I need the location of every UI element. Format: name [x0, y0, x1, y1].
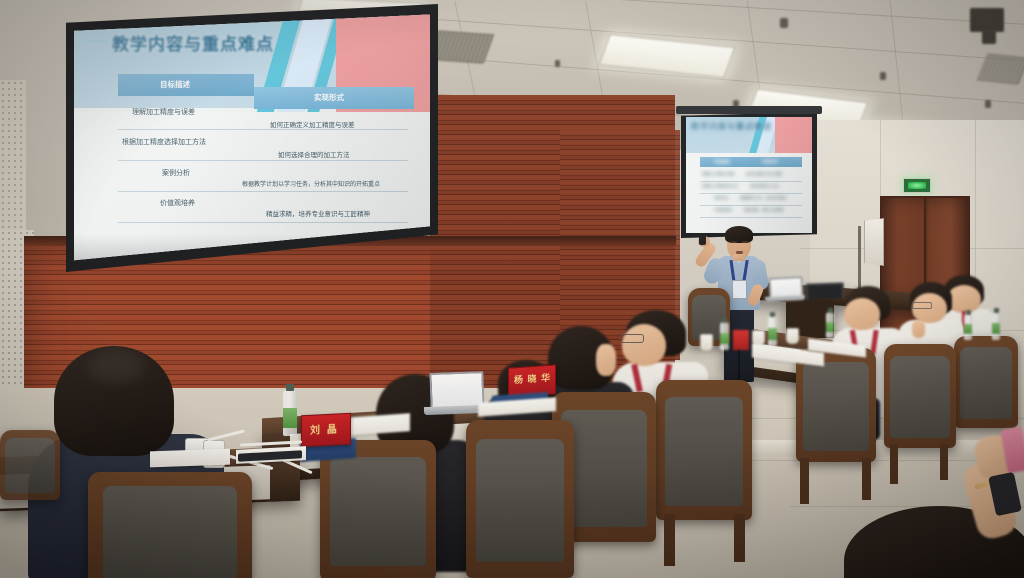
- chair-leg: [664, 514, 675, 566]
- paper-cup[interactable]: [786, 328, 799, 344]
- slide-main: 教学内容与重点难点 目标描述 实现形式 理解加工精度与误差 如何正确定义加工精度…: [74, 12, 430, 264]
- water-bottle[interactable]: [768, 316, 777, 346]
- slide-table-header-cell: 目标描述: [160, 79, 190, 90]
- presenter-eye: [742, 241, 749, 243]
- slide2-cell-3b: 根据教学计划，分析其中要点: [740, 196, 787, 201]
- bottle-label: [992, 323, 1000, 334]
- presenter-neck: [733, 254, 745, 261]
- presenter-eye: [730, 241, 737, 243]
- chair-cushion: [103, 486, 238, 578]
- slide2-pink-block: [775, 117, 812, 153]
- main-projection-screen[interactable]: 教学内容与重点难点 目标描述 实现形式 理解加工精度与误差 如何正确定义加工精度…: [66, 4, 438, 272]
- secondary-projection-screen[interactable]: 教学内容与重点难点 目标描述 实现形式 理解加工精度与误差 如何正确定义加工精度…: [681, 112, 817, 238]
- sprinkler-head: [880, 72, 886, 80]
- chair-cushion: [890, 356, 949, 437]
- chair-cushion: [960, 347, 1013, 419]
- documents-front-left[interactable]: [150, 449, 230, 468]
- bottle-label: [964, 324, 972, 334]
- presenter-remote[interactable]: [699, 234, 706, 245]
- slide2-cell-1a: 理解加工精度与误差: [702, 172, 734, 177]
- running-man-exit-icon: [908, 182, 926, 190]
- chair-right-rear[interactable]: [954, 336, 1018, 428]
- chair-leg: [800, 458, 809, 504]
- bottle-cap: [722, 318, 727, 323]
- chair-cushion: [5, 438, 54, 493]
- slide2-header-cell: 实现形式: [762, 159, 778, 165]
- chair-front-left-1[interactable]: [320, 440, 436, 578]
- chair-leg: [940, 444, 948, 480]
- slide-cell-impl-1: 如何正确定义加工精度与误差: [270, 119, 355, 129]
- slide2-title: 教学内容与重点难点: [691, 121, 772, 132]
- bottle-label: [768, 328, 777, 340]
- water-bottle[interactable]: [964, 314, 972, 340]
- slide2-cell-3a: 案例分析: [714, 196, 728, 201]
- slide-cell-obj-1: 理解加工精度与误差: [132, 107, 195, 117]
- chair-cushion: [803, 362, 869, 451]
- bottle-cap: [966, 310, 971, 315]
- presenter-badge: [732, 280, 747, 299]
- bottle-cap: [828, 308, 833, 313]
- classroom-scene: 教学内容与重点难点 目标描述 实现形式 理解加工精度与误差 如何正确定义加工精度…: [0, 0, 1024, 578]
- chair-leg: [734, 514, 745, 562]
- chair-far-left[interactable]: [0, 430, 60, 500]
- slide2-cell-2b: 如何选择加工方法: [750, 184, 779, 189]
- chair-right-mid[interactable]: [884, 344, 956, 448]
- water-bottle[interactable]: [283, 390, 297, 436]
- slide2-cell-2a: 根据加工精度选择方法: [702, 184, 738, 189]
- name-card-left-text: 刘 晶: [310, 420, 339, 437]
- slide-cell-obj-2: 根据加工精度选择加工方法: [122, 137, 206, 147]
- wall-speaker: [864, 218, 884, 266]
- bottle-label: [826, 322, 834, 332]
- main-screen-surface: 教学内容与重点难点 目标描述 实现形式 理解加工精度与误差 如何正确定义加工精度…: [74, 12, 430, 264]
- ceiling-projector-mount: [970, 8, 1004, 32]
- chair-leg: [862, 458, 871, 500]
- attendee-head: [844, 298, 880, 330]
- chair-cushion: [330, 457, 425, 566]
- slide2-cell-4a: 价值观培养: [714, 208, 732, 213]
- name-card-center-text: 杨 晓 华: [514, 371, 551, 387]
- slide-cell-obj-4: 价值观培养: [160, 198, 195, 208]
- chair-right-front[interactable]: [796, 348, 876, 462]
- secondary-screen-surface: 教学内容与重点难点 目标描述 实现形式 理解加工精度与误差 如何正确定义加工精度…: [686, 117, 812, 233]
- water-bottle[interactable]: [992, 312, 1000, 340]
- chair-cushion: [476, 439, 565, 562]
- slide-cell-impl-2: 如何选择合理的加工方法: [278, 149, 350, 159]
- bottle-cap: [286, 384, 294, 391]
- slide2-header-cell: 目标描述: [714, 159, 730, 165]
- slide2-table: 目标描述 实现形式 理解加工精度与误差 如何正确定义加工精度 根据加工精度选择方…: [700, 157, 802, 219]
- chair-cushion: [665, 397, 744, 506]
- bottle-label: [283, 408, 297, 428]
- hair-highlight: [88, 350, 144, 384]
- slide-cell-obj-3: 案例分析: [162, 168, 190, 178]
- name-card-left[interactable]: 刘 晶: [301, 413, 351, 448]
- sprinkler-head: [780, 18, 788, 28]
- screen2-roller-housing: [676, 106, 822, 114]
- chair-cushion: [561, 410, 646, 527]
- chair-center-1[interactable]: [656, 380, 752, 520]
- bottle-cap: [770, 312, 775, 317]
- slide-table: 目标描述 实现形式 理解加工精度与误差 如何正确定义加工精度与误差 根据加工精度…: [118, 74, 408, 226]
- slide-cell-impl-3: 根据教学计划以学习任务，分析其中知识的开拓重点: [242, 179, 380, 188]
- chair-leg: [890, 444, 898, 484]
- chair-front-left-2[interactable]: [88, 472, 252, 578]
- ceiling-projector-mount: [982, 30, 996, 44]
- exit-sign: [903, 178, 931, 193]
- snack-box[interactable]: [733, 330, 749, 350]
- bottle-cap: [994, 308, 999, 313]
- attendee-head: [596, 344, 616, 376]
- slide-cell-impl-4: 精益求精，培养专业意识与工匠精神: [266, 208, 370, 218]
- slide-title: 教学内容与重点难点: [112, 30, 274, 55]
- slide2-cell-1b: 如何正确定义加工精度: [746, 172, 782, 177]
- chair-center-3[interactable]: [466, 420, 574, 578]
- slide-secondary: 教学内容与重点难点 目标描述 实现形式 理解加工精度与误差 如何正确定义加工精度…: [686, 117, 812, 233]
- water-bottle[interactable]: [826, 312, 834, 338]
- slide2-cell-4b: 精益求精，培养工匠精神: [744, 208, 784, 213]
- sprinkler-head: [985, 100, 991, 108]
- attendee-phone-hand: [952, 428, 1024, 538]
- side-wall-acoustic-panel-upper: [0, 80, 26, 235]
- slide-title-dash: [90, 40, 106, 42]
- sprinkler-head: [555, 60, 560, 67]
